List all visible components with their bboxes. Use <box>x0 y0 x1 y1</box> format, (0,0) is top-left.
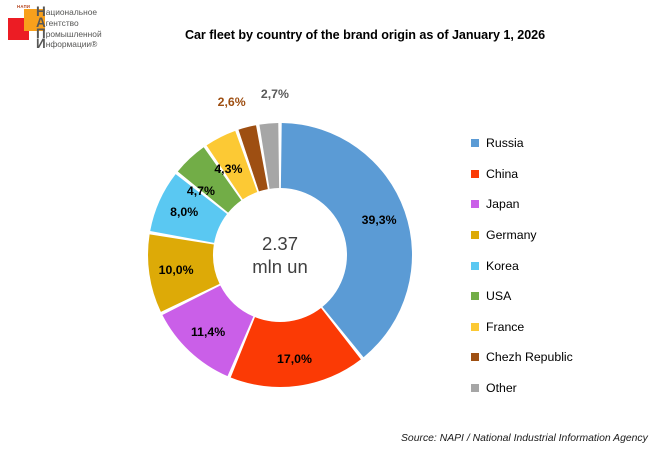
legend-item-label: USA <box>486 289 511 303</box>
donut-chart: 2.37 mln un 39,3%17,0%11,4%10,0%8,0%4,7%… <box>148 123 412 387</box>
legend-item-label: France <box>486 320 524 334</box>
legend-item[interactable]: Chezh Republic <box>471 342 621 373</box>
legend-item-label: Korea <box>486 259 519 273</box>
legend-item[interactable]: Russia <box>471 128 621 159</box>
legend-color-swatch-icon <box>471 200 479 208</box>
legend-item-label: Chezh Republic <box>486 350 573 364</box>
slice-data-label: 2,6% <box>218 95 246 109</box>
legend-color-swatch-icon <box>471 384 479 392</box>
logo-wordmark-initial: И <box>36 36 46 51</box>
legend-item[interactable]: China <box>471 159 621 190</box>
legend-color-swatch-icon <box>471 323 479 331</box>
legend-color-swatch-icon <box>471 292 479 300</box>
legend-item-label: China <box>486 167 518 181</box>
legend-color-swatch-icon <box>471 353 479 361</box>
legend-item[interactable]: Other <box>471 373 621 404</box>
legend-item[interactable]: USA <box>471 281 621 312</box>
legend-item-label: Germany <box>486 228 537 242</box>
legend-item[interactable]: France <box>471 312 621 343</box>
page-title: Car fleet by country of the brand origin… <box>130 28 600 42</box>
legend-item-label: Russia <box>486 136 524 150</box>
legend-color-swatch-icon <box>471 170 479 178</box>
napi-logo: НАПИ НациональноеАгентствоПромышленнойИн… <box>6 4 126 58</box>
legend-item-label: Other <box>486 381 517 395</box>
logo-wordmark-line: Информации® <box>36 39 102 50</box>
legend-color-swatch-icon <box>471 262 479 270</box>
legend-color-swatch-icon <box>471 139 479 147</box>
chart-legend: RussiaChinaJapanGermanyKoreaUSAFranceChe… <box>471 128 621 403</box>
source-note: Source: NAPI / National Industrial Infor… <box>401 433 648 444</box>
legend-item[interactable]: Germany <box>471 220 621 251</box>
slice-data-label: 2,7% <box>261 87 289 101</box>
donut-chart-svg <box>148 123 412 387</box>
legend-item-label: Japan <box>486 197 520 211</box>
legend-item[interactable]: Japan <box>471 189 621 220</box>
logo-wordmark: НациональноеАгентствоПромышленнойИнформа… <box>36 7 102 50</box>
legend-item[interactable]: Korea <box>471 250 621 281</box>
legend-color-swatch-icon <box>471 231 479 239</box>
